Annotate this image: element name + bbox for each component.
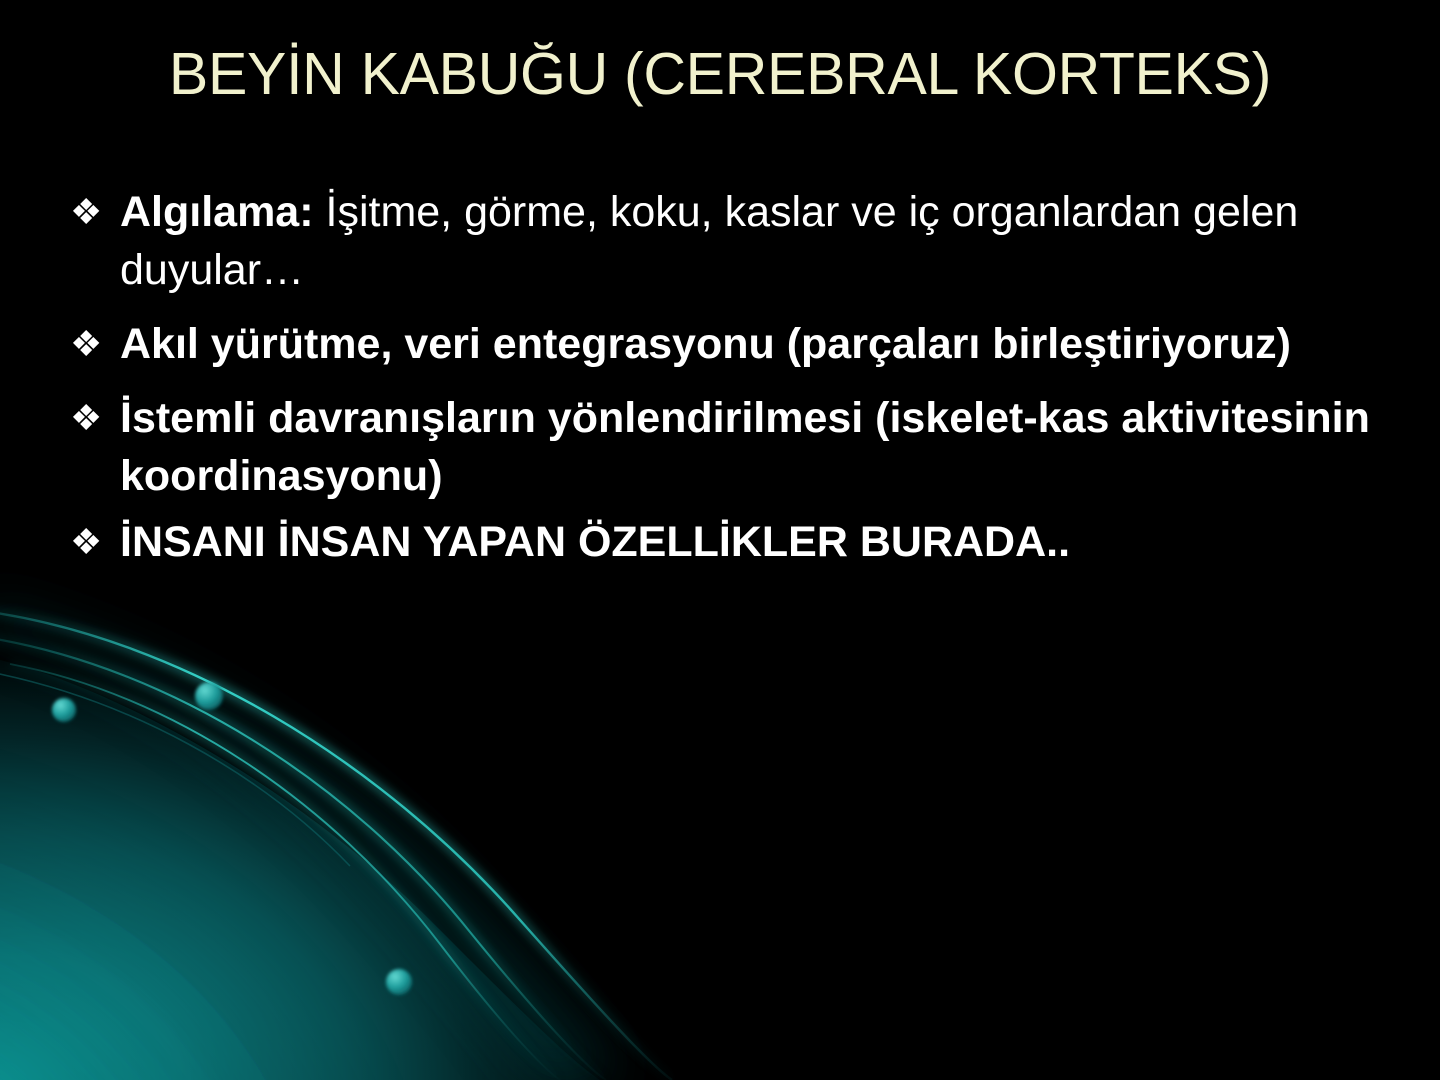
- teal-sweep-shadow: [0, 604, 625, 1080]
- bullet-text-3: İstemli davranışların yönlendirilmesi (i…: [120, 389, 1404, 505]
- diamond-bullet-icon: ❖: [64, 315, 120, 373]
- slide-canvas: BEYİN KABUĞU (CEREBRAL KORTEKS) ❖ Algıla…: [0, 0, 1440, 1080]
- page-title: BEYİN KABUĞU (CEREBRAL KORTEKS): [0, 44, 1440, 106]
- title-area: BEYİN KABUĞU (CEREBRAL KORTEKS): [0, 44, 1440, 106]
- list-item: ❖ İstemli davranışların yönlendirilmesi …: [64, 389, 1404, 505]
- bullet-text-4: İNSANI İNSAN YAPAN ÖZELLİKLER BURADA..: [120, 513, 1404, 571]
- list-item: ❖ İNSANI İNSAN YAPAN ÖZELLİKLER BURADA..: [64, 513, 1404, 571]
- teal-haze: [0, 650, 530, 1080]
- list-item: ❖ Akıl yürütme, veri entegrasyonu (parça…: [64, 315, 1404, 373]
- teal-wedge: [0, 660, 600, 1080]
- list-item: ❖ Algılama: İşitme, görme, koku, kaslar …: [64, 183, 1404, 299]
- bullet-list: ❖ Algılama: İşitme, görme, koku, kaslar …: [64, 183, 1404, 571]
- arc-line-group: [0, 612, 672, 1080]
- diamond-bullet-icon: ❖: [64, 513, 120, 571]
- diamond-bullet-icon: ❖: [64, 389, 120, 447]
- arc-glow-group: [0, 612, 672, 1080]
- arc-node-dots: [52, 682, 412, 995]
- diamond-bullet-icon: ❖: [64, 183, 120, 241]
- bullet-lead-1: Algılama:: [120, 188, 314, 236]
- bullet-text-2: Akıl yürütme, veri entegrasyonu (parçala…: [120, 315, 1404, 373]
- bullet-text-1: Algılama: İşitme, görme, koku, kaslar ve…: [120, 183, 1404, 299]
